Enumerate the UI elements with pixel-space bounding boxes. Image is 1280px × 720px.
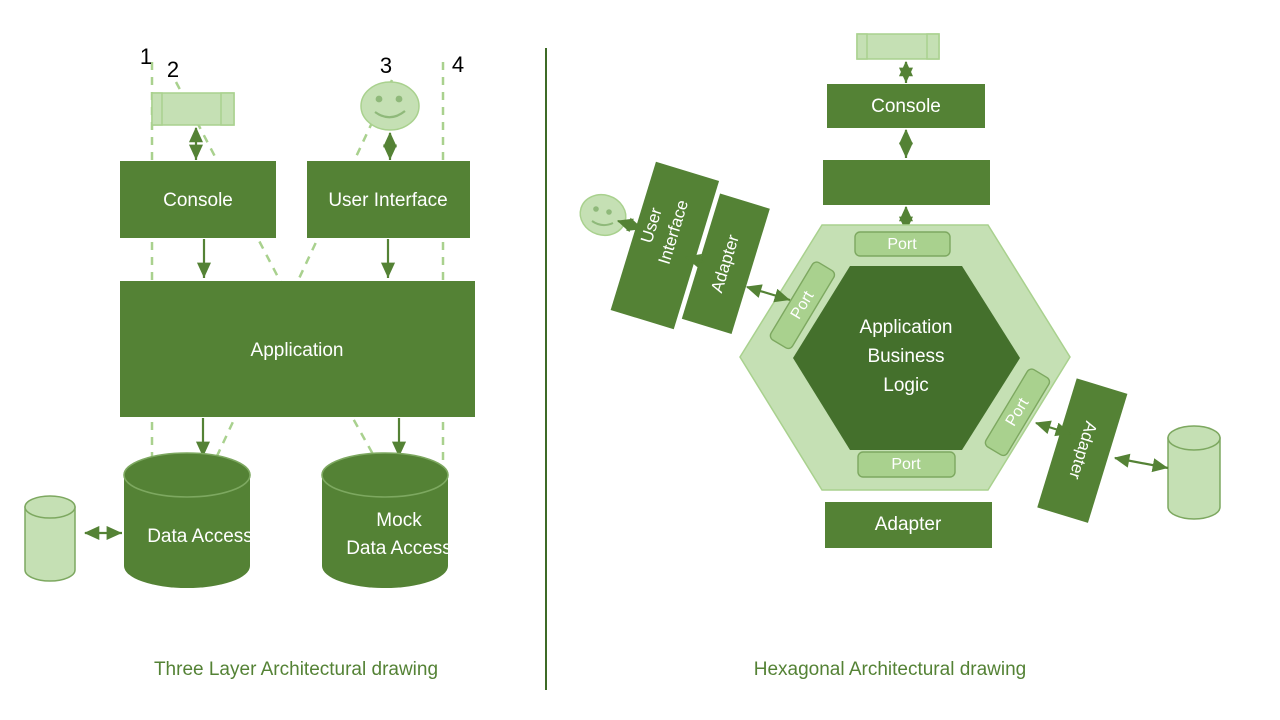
core-label-line-1: Application <box>860 317 953 338</box>
left-external-database-cylinder-icon <box>25 496 75 581</box>
right-adapter-bottom-text: Adapter <box>875 514 942 535</box>
left-diagram-caption: Three Layer Architectural drawing <box>154 659 438 680</box>
left-console-actor-card <box>152 93 234 125</box>
arrow-right-adapter-to-db <box>1115 458 1168 468</box>
architecture-diagram-svg: 1 2 3 4 Console User Interface <box>0 0 1280 720</box>
left-box-application-label: Application <box>251 340 344 361</box>
right-adapter-top[interactable] <box>823 160 990 205</box>
right-console-actor-card <box>857 34 939 59</box>
port-bottom[interactable]: Port <box>858 452 955 477</box>
left-user-actor-smiley-face-icon <box>361 82 419 130</box>
left-box-console-label: Console <box>163 190 233 211</box>
left-cylinder-data-access[interactable]: Data Access <box>124 453 253 588</box>
port-top-label: Port <box>887 236 917 253</box>
trace-number-2: 2 <box>167 57 179 82</box>
right-box-console[interactable]: Console <box>827 84 985 128</box>
left-cylinder-data-access-label: Data Access <box>147 526 253 547</box>
left-box-application[interactable]: Application <box>120 281 475 417</box>
left-cylinder-mock-data-access[interactable]: Mock Data Access <box>322 453 452 588</box>
left-box-user-interface[interactable]: User Interface <box>307 161 470 238</box>
trace-number-1: 1 <box>140 44 152 69</box>
core-label-line-2: Business <box>867 346 944 367</box>
trace-number-4: 4 <box>452 52 464 77</box>
right-diagram-caption: Hexagonal Architectural drawing <box>754 659 1027 680</box>
left-cylinder-mock-label-line1: Mock <box>376 510 422 531</box>
left-box-user-interface-label: User Interface <box>328 190 447 211</box>
port-bottom-label: Port <box>891 456 921 473</box>
core-label-line-3: Logic <box>883 375 928 396</box>
right-box-console-label: Console <box>871 96 941 117</box>
right-user-actor-smiley-face-icon <box>575 189 631 241</box>
right-external-database-cylinder-icon <box>1168 426 1220 519</box>
trace-number-3: 3 <box>380 53 392 78</box>
diagram-canvas: 1 2 3 4 Console User Interface <box>0 0 1280 720</box>
left-box-console[interactable]: Console <box>120 161 276 238</box>
port-top[interactable]: Port <box>855 232 950 256</box>
left-cylinder-mock-label-line2: Data Access <box>346 538 452 559</box>
